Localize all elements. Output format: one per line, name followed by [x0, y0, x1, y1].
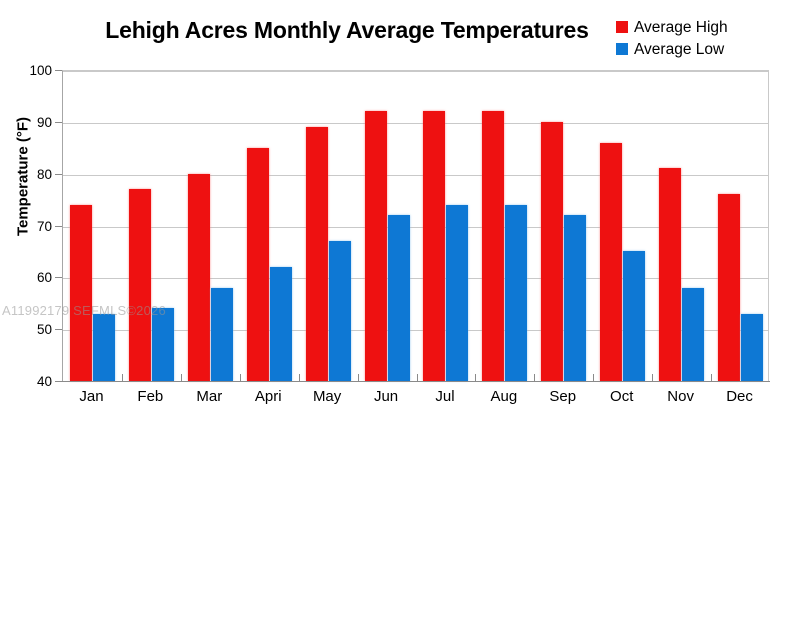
y-axis-tick-label: 70 [18, 220, 52, 233]
bar-average-high-nov[interactable] [659, 168, 681, 381]
x-axis-tick-mark [711, 374, 712, 381]
bar-average-low-oct[interactable] [623, 251, 645, 381]
bar-average-low-may[interactable] [329, 241, 351, 381]
y-axis-tick-label: 50 [18, 323, 52, 336]
y-axis-tick-mark [55, 329, 62, 330]
y-axis-tick-label: 40 [18, 375, 52, 388]
x-axis-tick-mark [417, 374, 418, 381]
y-axis-tick-label: 80 [18, 168, 52, 181]
bar-average-low-sep[interactable] [564, 215, 586, 381]
bar-average-high-jul[interactable] [423, 111, 445, 381]
bar-average-high-aug[interactable] [482, 111, 504, 381]
bar-group [240, 71, 299, 381]
y-axis-tick-label: 60 [18, 271, 52, 284]
plot-area [62, 70, 769, 381]
x-axis-tick-mark [652, 374, 653, 381]
bar-group [417, 71, 476, 381]
bar-average-high-sep[interactable] [541, 122, 563, 381]
x-axis-tick-mark [534, 374, 535, 381]
x-axis-tick-label-jun: Jun [357, 386, 416, 408]
bar-group [534, 71, 593, 381]
bar-average-high-dec[interactable] [718, 194, 740, 381]
bar-group [299, 71, 358, 381]
y-axis-tick-labels: 100908070605040 [0, 0, 52, 627]
x-axis-tick-label-dec: Dec [710, 386, 769, 408]
bar-group [593, 71, 652, 381]
x-axis-tick-label-sep: Sep [533, 386, 592, 408]
legend-label-average-high: Average High [634, 19, 728, 36]
x-axis-tick-labels: JanFebMarApriMayJunJulAugSepOctNovDec [62, 386, 769, 412]
x-axis-tick-label-may: May [298, 386, 357, 408]
x-axis-tick-label-mar: Mar [180, 386, 239, 408]
legend-label-average-low: Average Low [634, 41, 724, 58]
bar-average-low-nov[interactable] [682, 288, 704, 381]
x-axis-tick-label-nov: Nov [651, 386, 710, 408]
x-axis-tick-mark [240, 374, 241, 381]
y-axis-tick-mark [55, 70, 62, 71]
bar-average-low-dec[interactable] [741, 314, 763, 381]
bar-average-high-feb[interactable] [129, 189, 151, 381]
x-axis-tick-label-apri: Apri [239, 386, 298, 408]
x-axis-tick-mark [181, 374, 182, 381]
bar-average-low-aug[interactable] [505, 205, 527, 381]
bar-average-low-feb[interactable] [152, 308, 174, 381]
y-axis-tick-mark [55, 122, 62, 123]
bar-group [652, 71, 711, 381]
x-axis-tick-mark [475, 374, 476, 381]
y-axis-tick-label: 100 [18, 64, 52, 77]
y-axis-tick-mark [55, 174, 62, 175]
x-axis-tick-label-jul: Jul [416, 386, 475, 408]
legend-swatch-average-high [616, 21, 628, 33]
chart-title: Lehigh Acres Monthly Average Temperature… [62, 16, 632, 44]
bar-average-low-jun[interactable] [388, 215, 410, 381]
x-axis-line [62, 381, 770, 382]
temperature-bar-chart: Lehigh Acres Monthly Average Temperature… [0, 0, 788, 627]
bar-series-container [63, 71, 768, 381]
x-axis-tick-mark [299, 374, 300, 381]
chart-legend: Average High Average Low [616, 16, 766, 60]
bar-average-low-jul[interactable] [446, 205, 468, 381]
y-axis-tick-mark [55, 277, 62, 278]
bar-group [711, 71, 770, 381]
x-axis-tick-label-oct: Oct [592, 386, 651, 408]
bar-group [358, 71, 417, 381]
bar-group [181, 71, 240, 381]
y-axis-tick-mark [55, 226, 62, 227]
y-axis-tick-label: 90 [18, 116, 52, 129]
legend-item-average-high[interactable]: Average High [616, 16, 766, 38]
bar-average-high-oct[interactable] [600, 143, 622, 381]
x-axis-tick-mark [122, 374, 123, 381]
legend-swatch-average-low [616, 43, 628, 55]
bar-group [122, 71, 181, 381]
bar-average-low-mar[interactable] [211, 288, 233, 381]
legend-item-average-low[interactable]: Average Low [616, 38, 766, 60]
bar-average-high-jun[interactable] [365, 111, 387, 381]
bar-average-high-may[interactable] [306, 127, 328, 381]
bar-group [475, 71, 534, 381]
x-axis-tick-mark [593, 374, 594, 381]
bar-average-high-apri[interactable] [247, 148, 269, 381]
x-axis-tick-label-feb: Feb [121, 386, 180, 408]
y-axis-tick-mark [55, 381, 62, 382]
bar-average-high-mar[interactable] [188, 174, 210, 381]
bar-average-low-jan[interactable] [93, 314, 115, 381]
bar-average-high-jan[interactable] [70, 205, 92, 381]
bar-average-low-apri[interactable] [270, 267, 292, 381]
x-axis-tick-mark [358, 374, 359, 381]
x-axis-tick-label-jan: Jan [62, 386, 121, 408]
bar-group [63, 71, 122, 381]
x-axis-tick-label-aug: Aug [474, 386, 533, 408]
